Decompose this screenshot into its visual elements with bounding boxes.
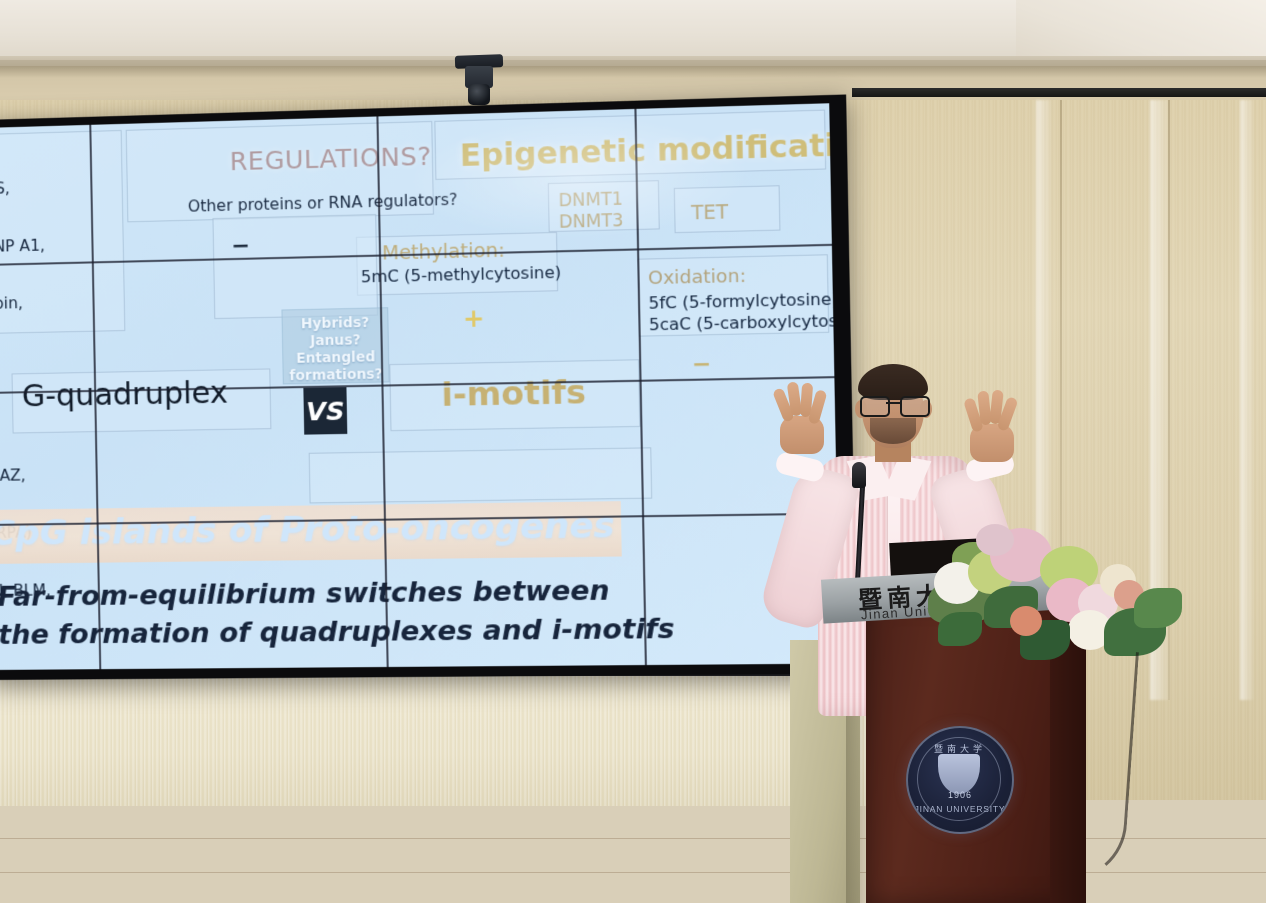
speaker-hair [858, 364, 928, 400]
ceiling-edge-trim [0, 56, 1266, 66]
slide-box-cpg-source [309, 447, 653, 503]
binder-line: AM, Thrombin, [0, 292, 131, 316]
slide-oxidation-line2: 5caC (5-carboxylcytosine) [649, 310, 840, 335]
slide-hybrids-box-text: Hybrids? Janus? Entangled formations? [286, 314, 386, 385]
eyeglasses-icon [860, 396, 928, 413]
crest-year: 1906 [908, 790, 1012, 800]
slide-vs-badge: VS [303, 387, 347, 434]
camera-lens-icon [468, 84, 490, 105]
binder-line: lex BINDERS, [0, 176, 129, 201]
slide-oxidation-heading: Oxidation: [648, 265, 746, 290]
eucalyptus-leaf [1134, 588, 1182, 628]
slide-tet-label: TET [691, 201, 729, 226]
slide-imotifs-label: i-motifs [441, 373, 586, 415]
wall-slat [1240, 100, 1254, 700]
lecture-hall-scene: lex BINDERS, NMP1, hnRNP A1, AM, Thrombi… [0, 0, 1266, 903]
crest-english-text: JINAN UNIVERSITY [908, 804, 1012, 814]
slide-minus-sign-right: − [692, 352, 712, 380]
pink-rose [976, 524, 1014, 556]
slide-content: lex BINDERS, NMP1, hnRNP A1, AM, Thrombi… [0, 103, 840, 670]
university-crest-icon: 暨南大学 1906 JINAN UNIVERSITY [906, 726, 1014, 834]
binder-line: NMP1, hnRNP A1, [0, 234, 130, 258]
slide-conclusion-line1: Far-from-equilibrium switches between [0, 575, 610, 615]
slide-plus-sign: + [463, 303, 485, 335]
binder-line: TI, TRF1, MAZ, [0, 464, 134, 486]
slide-vs-text: VS [306, 396, 345, 426]
microphone-icon [852, 462, 866, 488]
slide-oxidation-line1: 5fC (5-formylcytosine), [648, 289, 839, 313]
speaker-beard [870, 418, 916, 444]
wainscot-panel [0, 676, 900, 806]
presentation-screen: lex BINDERS, NMP1, hnRNP A1, AM, Thrombi… [0, 94, 857, 680]
binder-line: G4-up, [0, 350, 132, 373]
speaker-left-cuff [774, 451, 826, 484]
speaker-left-hand [776, 382, 830, 454]
slide-gquadruplex-label: G-quadruplex [22, 375, 229, 416]
speaker-right-hand [966, 390, 1020, 462]
slide-regulations-heading: REGULATIONS? [229, 141, 431, 177]
slide-box-minus-left [212, 214, 378, 319]
power-cable [1010, 644, 1139, 884]
eyeglass-lens-left [860, 396, 890, 417]
slide-cpg-label: CpG islands of Proto-oncogenes [0, 505, 615, 555]
wall-rail [852, 88, 1266, 97]
coral-rose [1010, 606, 1042, 636]
slide-dnmt-label: DNMT1 DNMT3 [558, 189, 623, 233]
eyeglass-lens-right [900, 396, 930, 417]
screen-surface: lex BINDERS, NMP1, hnRNP A1, AM, Thrombi… [0, 103, 840, 670]
eyeglass-bridge [886, 402, 900, 404]
slide-conclusion-line2: the formation of quadruplexes and i-moti… [0, 613, 675, 652]
leaf [938, 612, 982, 646]
